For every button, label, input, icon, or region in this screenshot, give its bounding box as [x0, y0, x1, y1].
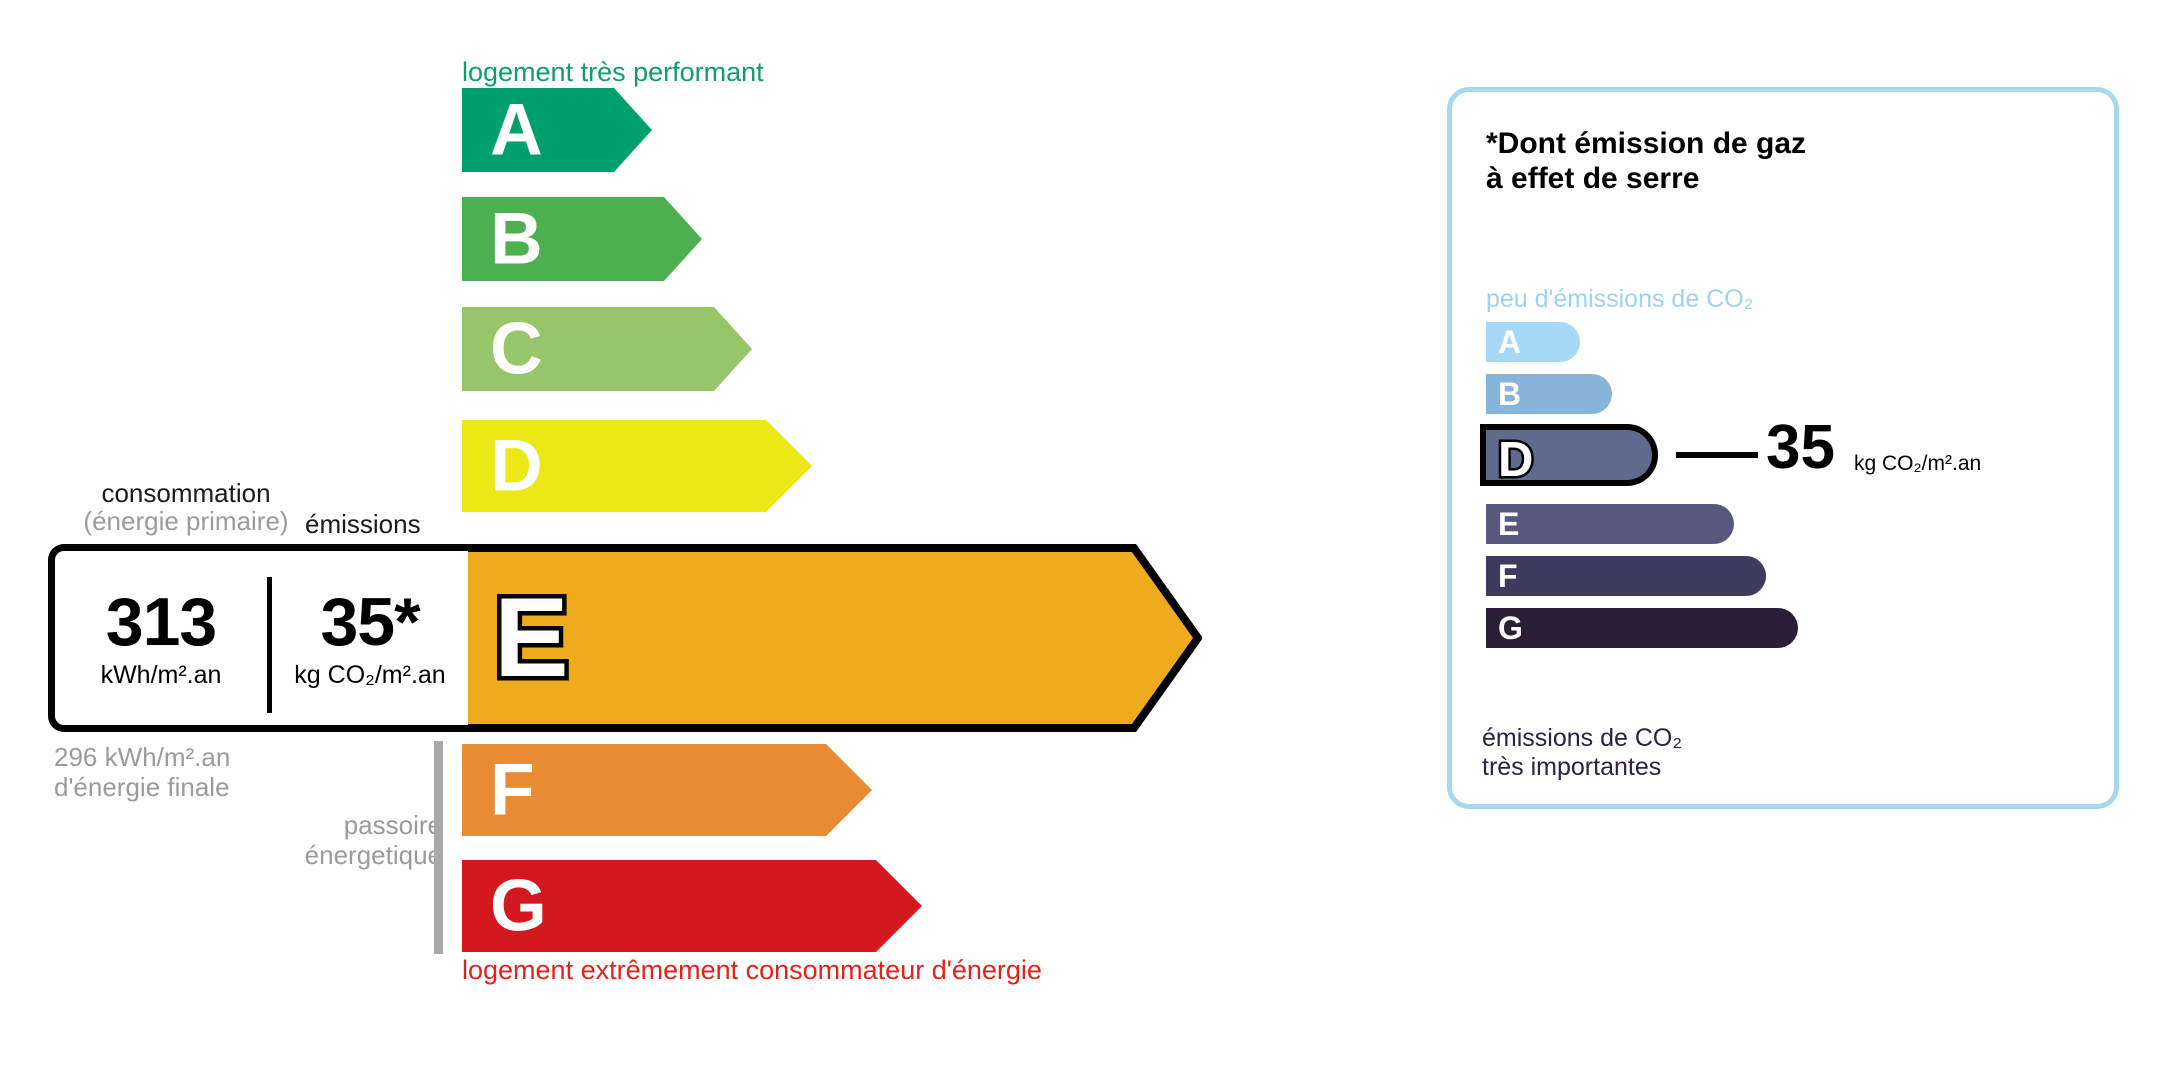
co2-bar-d-selected: D 35 kg CO₂/m².an	[1480, 424, 1658, 486]
co2-bar-g-letter: G	[1498, 612, 1523, 644]
co2-bar-a-letter: A	[1498, 326, 1521, 358]
energy-bar-a-letter: A	[490, 94, 543, 167]
final-energy-line1: 296 kWh/m².an	[54, 742, 230, 772]
co2-bottom-line1: émissions de CO₂	[1482, 724, 1682, 753]
co2-callout-leader-line	[1676, 452, 1758, 458]
energy-bar-d: D	[462, 420, 812, 512]
energy-bar-c-letter: C	[490, 313, 543, 386]
co2-panel-title: *Dont émission de gaz à effet de serre	[1486, 126, 1806, 197]
energy-bar-d-letter: D	[490, 430, 543, 503]
co2-bar-f-letter: F	[1498, 560, 1518, 592]
co2-value: 35*	[320, 588, 419, 656]
co2-bar-d-shell: D	[1480, 424, 1658, 486]
passoire-note: passoire énergetique	[262, 810, 442, 870]
passoire-line1: passoire	[262, 810, 442, 840]
co2-unit: kg CO₂/m².an	[294, 663, 445, 688]
co2-bar-e: E	[1486, 504, 1734, 544]
energy-bar-b-letter: B	[490, 203, 543, 276]
emissions-header: émissions	[305, 509, 421, 540]
co2-bar-b: B	[1486, 374, 1612, 414]
energy-bar-e-letter: E	[494, 582, 569, 694]
consumption-subtitle: (énergie primaire)	[66, 506, 306, 537]
final-energy-note: 296 kWh/m².an d'énergie finale	[54, 742, 230, 802]
co2-bottom-line2: très importantes	[1482, 753, 1682, 782]
energy-bar-g-letter: G	[490, 870, 547, 943]
energy-bar-b: B	[462, 197, 702, 281]
energy-bottom-label: logement extrêmement consommateur d'éner…	[462, 955, 1042, 986]
co2-value-cell: 35* kg CO₂/m².an	[272, 551, 468, 725]
energy-bar-f-letter: F	[490, 754, 535, 827]
co2-bar-b-letter: B	[1498, 378, 1521, 410]
passoire-line2: énergetique	[262, 840, 442, 870]
energy-top-label: logement très performant	[462, 57, 764, 88]
energy-performance-chart: logement très performant A B C D F	[0, 0, 1400, 1079]
values-box: 313 kWh/m².an 35* kg CO₂/m².an	[48, 544, 468, 732]
co2-emissions-panel: *Dont émission de gaz à effet de serre p…	[1447, 87, 2119, 809]
co2-bar-g: G	[1486, 608, 1798, 648]
co2-title-line1: *Dont émission de gaz	[1486, 126, 1806, 161]
energy-bar-a: A	[462, 88, 652, 172]
energy-bar-f: F	[462, 744, 872, 836]
energy-bar-g: G	[462, 860, 922, 952]
co2-bar-e-letter: E	[1498, 508, 1519, 540]
consumption-header: consommation (énergie primaire)	[66, 478, 306, 537]
co2-callout-value: 35	[1766, 417, 1835, 479]
passoire-bracket-line	[434, 741, 443, 954]
co2-title-line2: à effet de serre	[1486, 161, 1806, 196]
primary-energy-unit: kWh/m².an	[101, 663, 222, 688]
primary-energy-value: 313	[106, 588, 216, 656]
co2-bar-f: F	[1486, 556, 1766, 596]
energy-bar-e-arrow	[462, 544, 1202, 732]
co2-top-label: peu d'émissions de CO₂	[1486, 285, 1753, 314]
co2-bar-d-letter: D	[1498, 436, 1533, 485]
co2-callout-unit: kg CO₂/m².an	[1854, 452, 1981, 476]
co2-bar-a: A	[1486, 322, 1580, 362]
consumption-title: consommation	[101, 478, 270, 508]
energy-bar-c: C	[462, 307, 752, 391]
co2-bottom-label: émissions de CO₂ très importantes	[1482, 724, 1682, 782]
final-energy-line2: d'énergie finale	[54, 772, 230, 802]
primary-energy-value-cell: 313 kWh/m².an	[55, 551, 267, 725]
